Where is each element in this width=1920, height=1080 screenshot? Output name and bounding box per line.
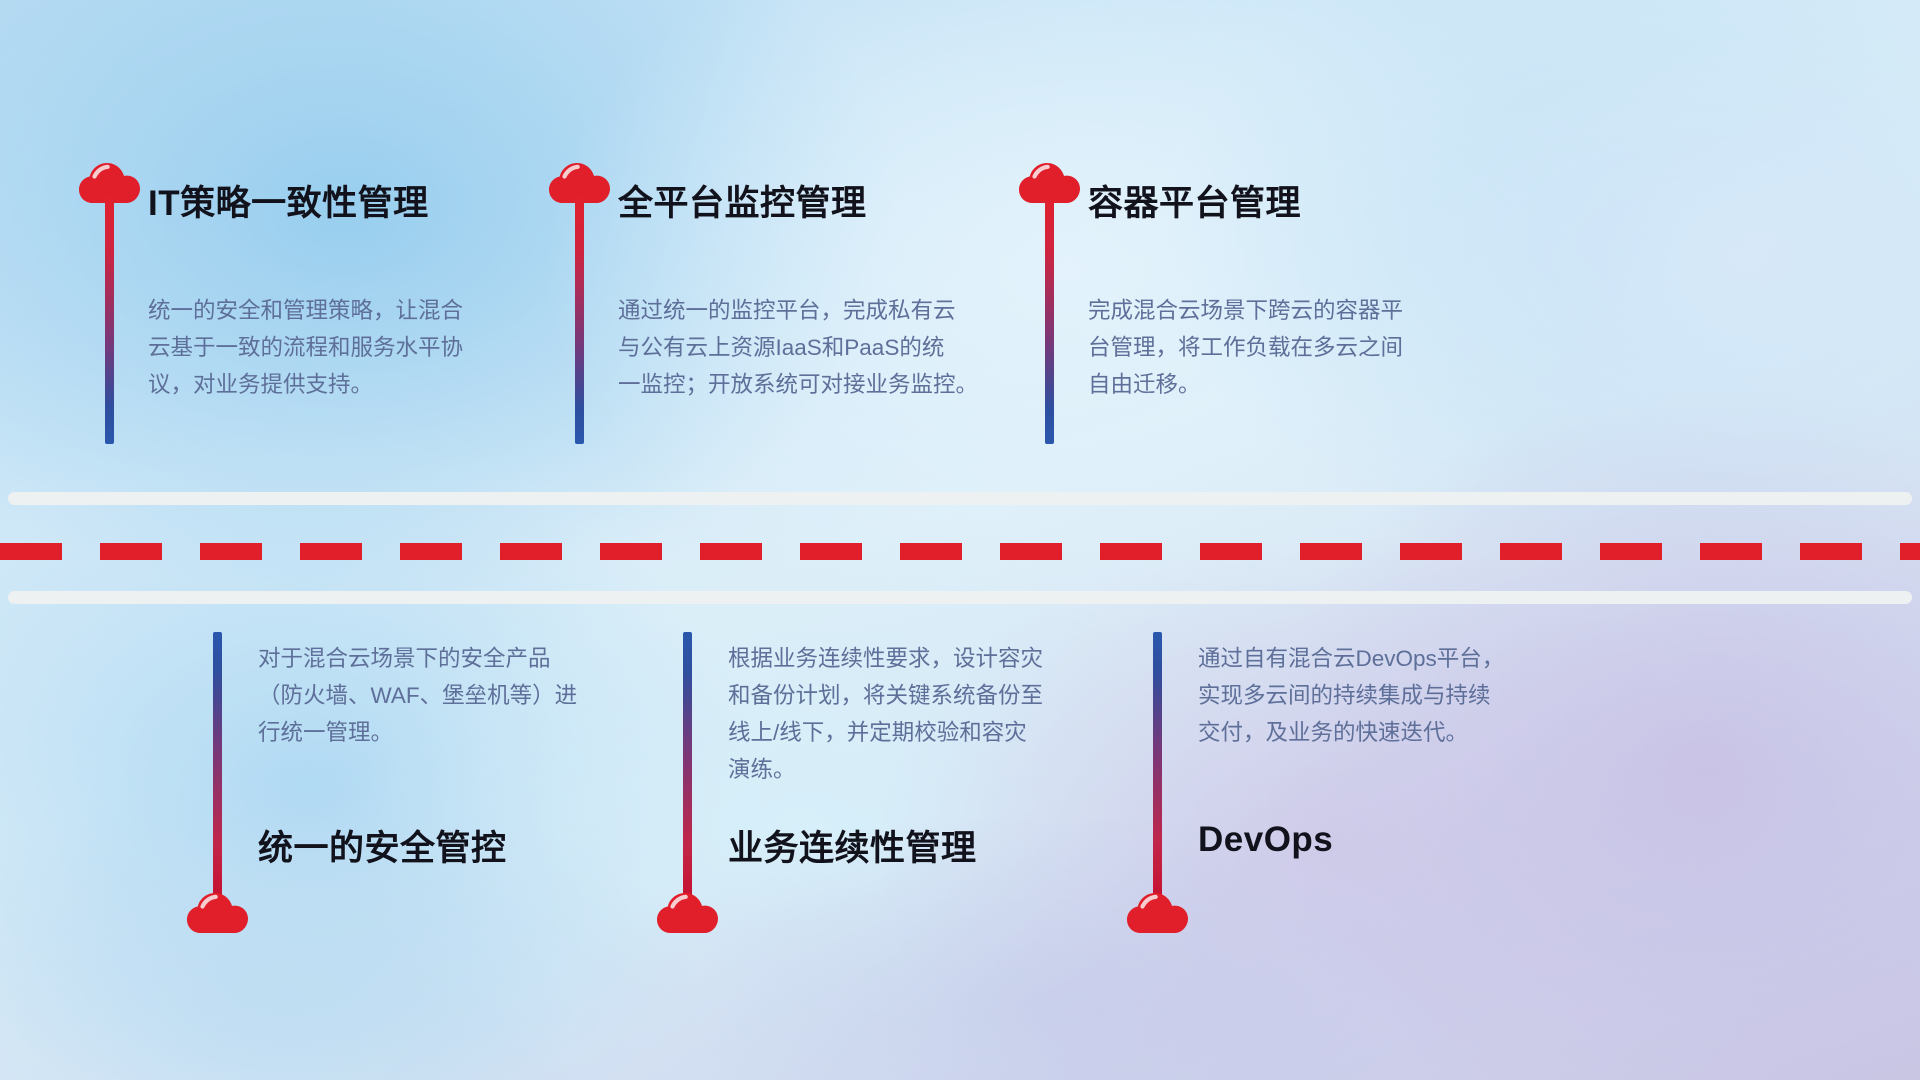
- body-it-policy-consistency: 统一的安全和管理策略，让混合 云基于一致的流程和服务水平协 议，对业务提供支持。: [148, 292, 508, 403]
- stem-business-continuity-management: [683, 632, 692, 902]
- body-business-continuity-management: 根据业务连续性要求，设计容灾 和备份计划，将关键系统备份至 线上/线下，并定期校…: [728, 640, 1088, 788]
- road-center-dashed-line: [0, 543, 1920, 560]
- title-devops: DevOps: [1198, 820, 1333, 860]
- cloud-pin-icon: [656, 890, 720, 934]
- title-it-policy-consistency: IT策略一致性管理: [148, 175, 429, 226]
- road-edge-bottom: [8, 591, 1912, 604]
- body-unified-security-control: 对于混合云场景下的安全产品 （防火墙、WAF、堡垒机等）进 行统一管理。: [258, 640, 618, 751]
- pin-it-policy-consistency[interactable]: [78, 160, 142, 204]
- pin-container-platform-management[interactable]: [1018, 160, 1082, 204]
- stem-full-platform-monitoring: [575, 196, 584, 444]
- pin-full-platform-monitoring[interactable]: [548, 160, 612, 204]
- cloud-pin-icon: [1126, 890, 1190, 934]
- stem-it-policy-consistency: [105, 196, 114, 444]
- title-business-continuity-management: 业务连续性管理: [728, 820, 977, 871]
- body-devops: 通过自有混合云DevOps平台， 实现多云间的持续集成与持续 交付，及业务的快速…: [1198, 640, 1568, 751]
- title-unified-security-control: 统一的安全管控: [258, 820, 507, 871]
- title-full-platform-monitoring: 全平台监控管理: [618, 175, 867, 226]
- road-edge-top: [8, 492, 1912, 505]
- title-container-platform-management: 容器平台管理: [1088, 175, 1301, 226]
- body-container-platform-management: 完成混合云场景下跨云的容器平 台管理，将工作负载在多云之间 自由迁移。: [1088, 292, 1463, 403]
- stem-devops: [1153, 632, 1162, 902]
- cloud-pin-icon: [186, 890, 250, 934]
- background-blob-10: [576, 821, 1536, 1080]
- body-full-platform-monitoring: 通过统一的监控平台，完成私有云 与公有云上资源IaaS和PaaS的统 一监控；开…: [618, 292, 1018, 403]
- stem-unified-security-control: [213, 632, 222, 902]
- stem-container-platform-management: [1045, 196, 1054, 444]
- background-blob-8: [1421, 43, 1920, 475]
- infographic-canvas: IT策略一致性管理 统一的安全和管理策略，让混合 云基于一致的流程和服务水平协 …: [0, 0, 1920, 1080]
